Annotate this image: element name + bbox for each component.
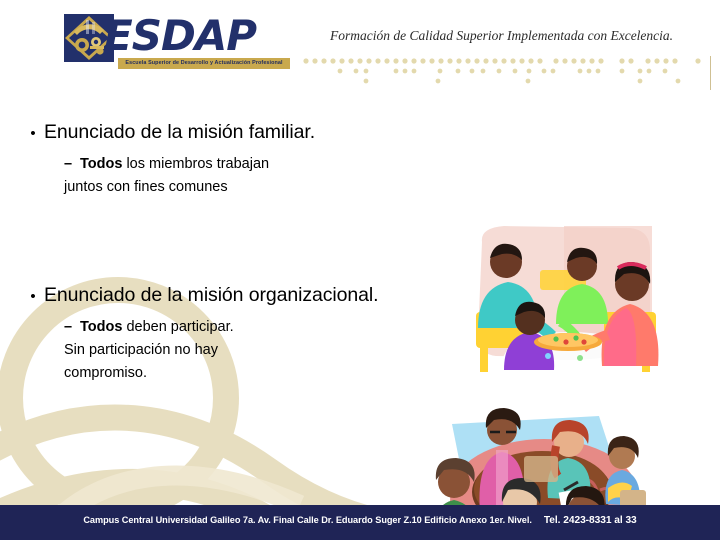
- sub-text-organizational: –Todos deben participar. Sin participaci…: [22, 316, 452, 385]
- content-block-organizational: • Enunciado de la misión organizacional.…: [22, 282, 452, 385]
- sub-lead: Todos: [80, 156, 122, 172]
- family-at-table-illustration: [452, 220, 674, 382]
- header-divider-line: [710, 56, 711, 90]
- sub-dash-icon: –: [64, 316, 80, 339]
- footer-contact: Campus Central Universidad Galileo 7a. A…: [0, 515, 720, 526]
- footer-address: Campus Central Universidad Galileo 7a. A…: [83, 515, 532, 525]
- sub-line: juntos con fines comunes: [64, 176, 452, 199]
- slide-content: • Enunciado de la misión familiar. –Todo…: [0, 92, 720, 490]
- sub-line-rest: los miembros trabajan: [122, 156, 269, 172]
- slide-footer: Campus Central Universidad Galileo 7a. A…: [0, 505, 720, 540]
- bullet-marker-icon: •: [22, 284, 44, 310]
- sub-line: –Todos deben participar.: [64, 316, 452, 339]
- sub-line-rest: deben participar.: [122, 319, 233, 335]
- sub-text-family: –Todos los miembros trabajan juntos con …: [22, 153, 452, 199]
- sub-line: compromiso.: [64, 362, 452, 385]
- sub-dash-icon: –: [64, 153, 80, 176]
- bullet-heading-family: Enunciado de la misión familiar.: [44, 119, 315, 145]
- sub-lead: Todos: [80, 319, 122, 335]
- footer-phone: Tel. 2423-8331 al 33: [544, 515, 637, 526]
- logo-subtitle: Escuela Superior de Desarrollo y Actuali…: [118, 58, 290, 69]
- slide-header: ESDAP Escuela Superior de Desarrollo y A…: [0, 0, 720, 92]
- sub-line: –Todos los miembros trabajan: [64, 153, 452, 176]
- header-tagline: Formación de Calidad Superior Implementa…: [330, 28, 710, 44]
- esdap-logo: ESDAP Escuela Superior de Desarrollo y A…: [62, 12, 292, 72]
- bullet-marker-icon: •: [22, 121, 44, 147]
- halftone-dots-decoration: [300, 56, 712, 86]
- bullet-family: • Enunciado de la misión familiar.: [22, 119, 452, 147]
- content-block-family: • Enunciado de la misión familiar. –Todo…: [22, 119, 452, 199]
- bullet-organizational: • Enunciado de la misión organizacional.: [22, 282, 452, 310]
- sub-line: Sin participación no hay: [64, 339, 452, 362]
- bullet-heading-organizational: Enunciado de la misión organizacional.: [44, 282, 378, 308]
- slide: ESDAP Escuela Superior de Desarrollo y A…: [0, 0, 720, 540]
- logo-wordmark: ESDAP: [104, 14, 256, 58]
